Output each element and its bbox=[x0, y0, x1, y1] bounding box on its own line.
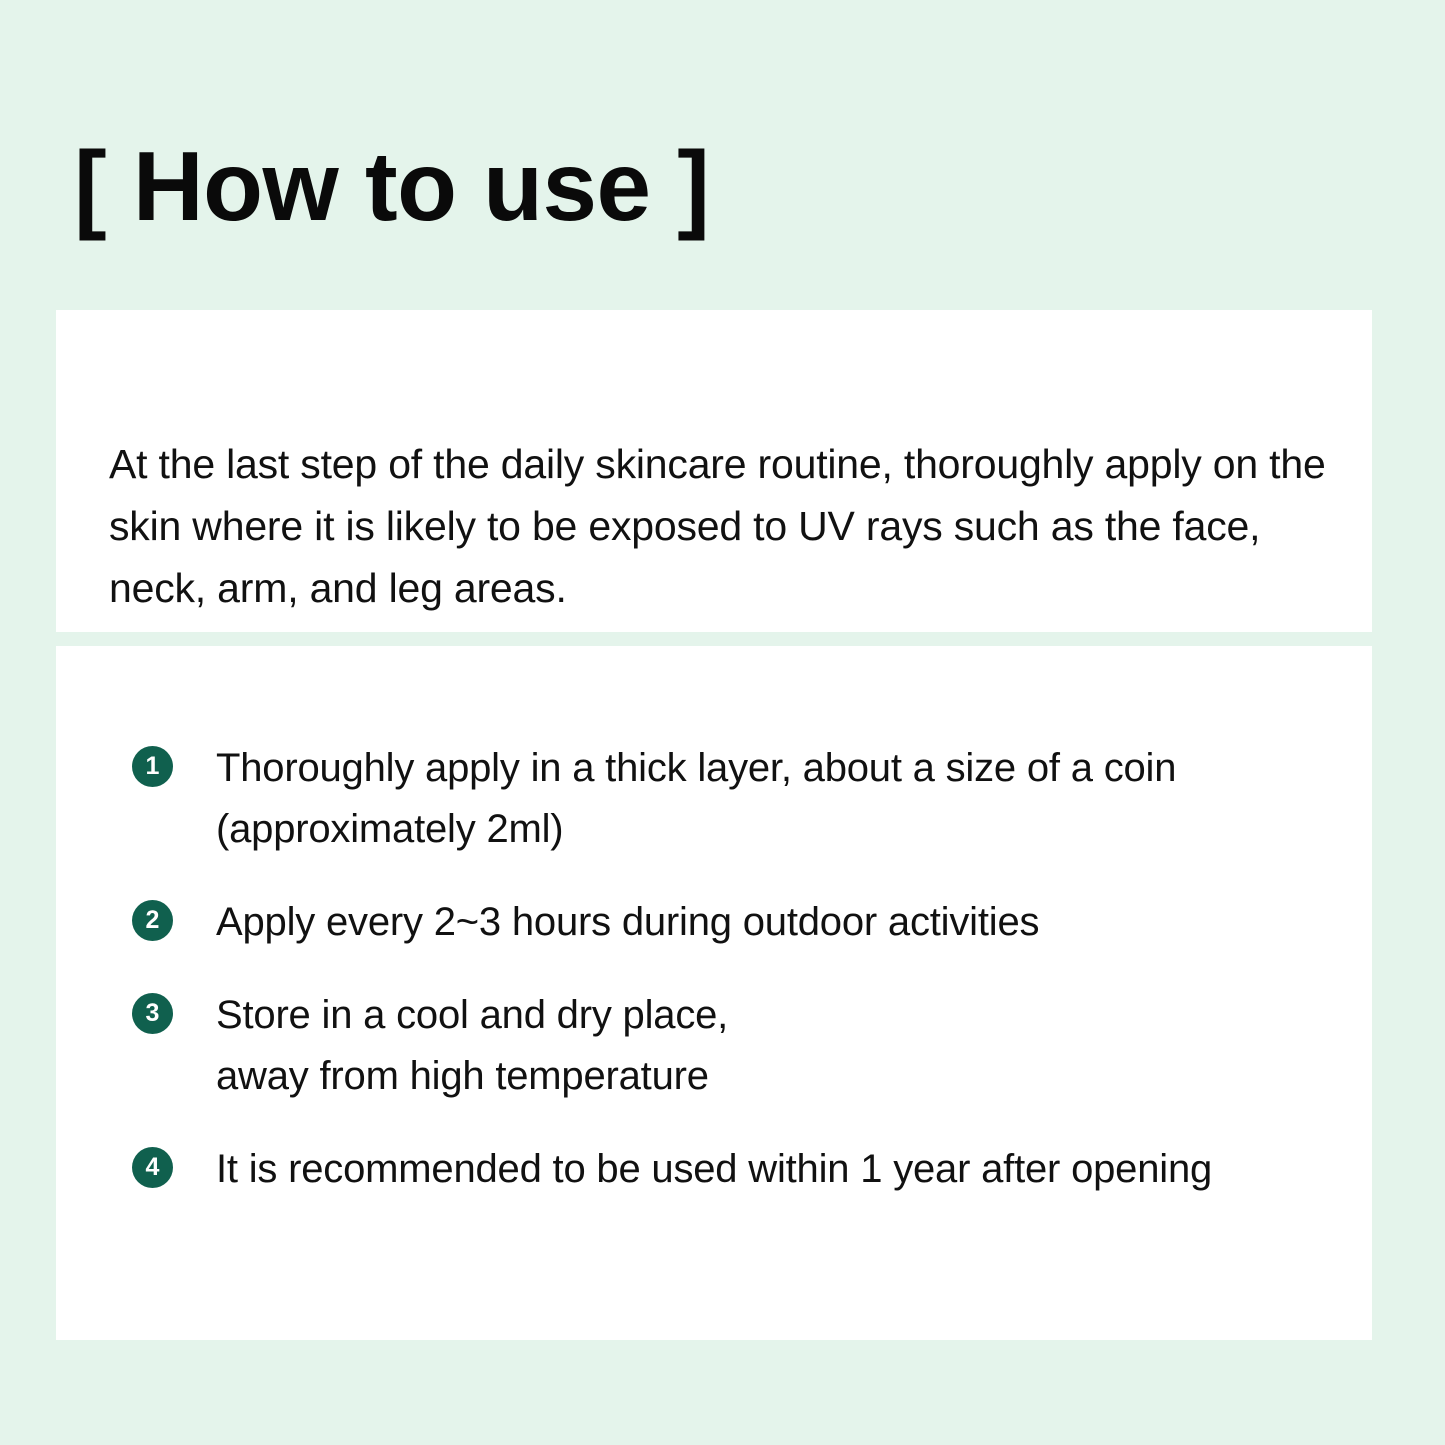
step-text-2: Apply every 2~3 hours during outdoor act… bbox=[216, 892, 1347, 953]
list-item: 3 Store in a cool and dry place, away fr… bbox=[132, 985, 1347, 1107]
steps-card: 1 Thoroughly apply in a thick layer, abo… bbox=[56, 646, 1372, 1340]
step-text-1: Thoroughly apply in a thick layer, about… bbox=[216, 738, 1347, 860]
list-item: 1 Thoroughly apply in a thick layer, abo… bbox=[132, 738, 1347, 860]
step-number-badge-2: 2 bbox=[132, 900, 173, 941]
list-item: 4 It is recommended to be used within 1 … bbox=[132, 1139, 1347, 1200]
step-number-badge-1: 1 bbox=[132, 746, 173, 787]
steps-list: 1 Thoroughly apply in a thick layer, abo… bbox=[132, 738, 1347, 1200]
list-item: 2 Apply every 2~3 hours during outdoor a… bbox=[132, 892, 1347, 953]
step-number-badge-4: 4 bbox=[132, 1147, 173, 1188]
step-text-4: It is recommended to be used within 1 ye… bbox=[216, 1139, 1347, 1200]
step-text-3: Store in a cool and dry place, away from… bbox=[216, 985, 1347, 1107]
how-to-use-page: [ How to use ] At the last step of the d… bbox=[0, 0, 1445, 1445]
page-title: [ How to use ] bbox=[74, 134, 709, 240]
step-number-badge-3: 3 bbox=[132, 993, 173, 1034]
intro-paragraph: At the last step of the daily skincare r… bbox=[109, 433, 1334, 619]
intro-card: At the last step of the daily skincare r… bbox=[56, 310, 1372, 632]
